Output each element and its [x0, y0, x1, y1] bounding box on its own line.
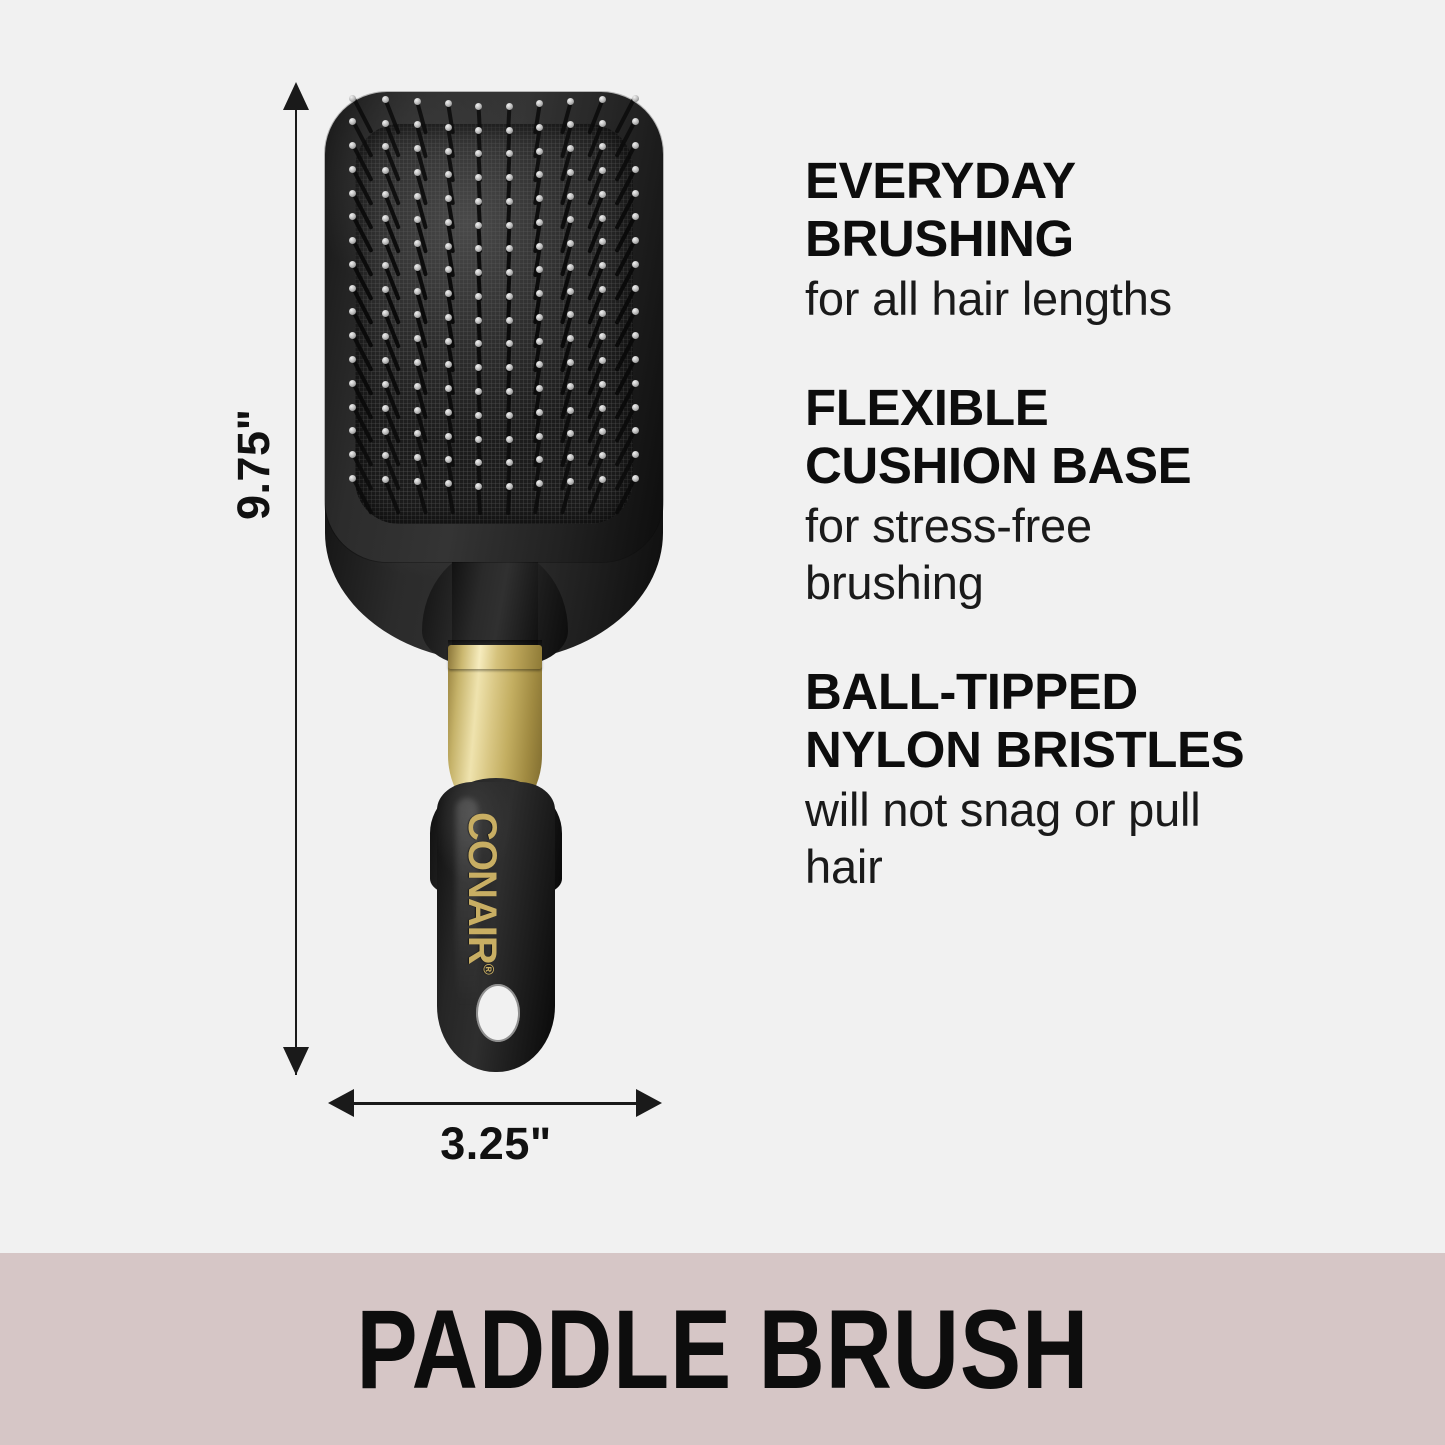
feature-item: BALL-TIPPED NYLON BRISTLES will not snag…: [805, 663, 1275, 895]
bristle-ball-tip: [632, 451, 639, 458]
bristle-ball-tip: [567, 430, 574, 437]
gold-ferrule-band: [448, 645, 542, 669]
width-dimension-label: 3.25": [336, 1118, 656, 1170]
bristle-ball-tip: [382, 262, 389, 269]
bristle-ball-tip: [414, 216, 421, 223]
bristle-ball-tip: [506, 317, 513, 324]
bristle-ball-tip: [567, 240, 574, 247]
bristle-ball-tip: [382, 120, 389, 127]
bristle-ball-tip: [536, 361, 543, 368]
bristle-ball-tip: [599, 428, 606, 435]
bristle-ball-tip: [567, 264, 574, 271]
handle-hang-hole: [476, 984, 520, 1042]
width-dimension-arrow-right: [636, 1089, 662, 1117]
bristle-ball-tip: [414, 335, 421, 342]
bristle-ball-tip: [632, 166, 639, 173]
bristle-ball-tip: [445, 124, 452, 131]
height-dimension-label: 9.75": [228, 409, 280, 520]
bristle-ball-tip: [567, 98, 574, 105]
bristle-ball-tip: [445, 290, 452, 297]
bristle-ball-tip: [445, 148, 452, 155]
bristle-ball-tip: [632, 427, 639, 434]
bristle-ball-tip: [414, 145, 421, 152]
bristle-ball-tip: [567, 383, 574, 390]
bristle-ball-tip: [414, 240, 421, 247]
product-name-title: PADDLE BRUSH: [356, 1285, 1089, 1414]
bristle-ball-tip: [414, 478, 421, 485]
bristle-ball-tip: [506, 412, 513, 419]
bristle-ball-tip: [567, 216, 574, 223]
bristle-ball-tip: [445, 243, 452, 250]
bristle-ball-tip: [536, 290, 543, 297]
bristle-ball-tip: [536, 456, 543, 463]
bristle-ball-tip: [599, 262, 606, 269]
bristle-ball-tip: [599, 357, 606, 364]
bristle-ball-tip: [536, 124, 543, 131]
bristle-ball-tip: [414, 98, 421, 105]
feature-description: for stress-free brushing: [805, 497, 1275, 611]
bristle-ball-tip: [567, 454, 574, 461]
feature-item: FLEXIBLE CUSHION BASE for stress-free br…: [805, 379, 1275, 611]
bristle-ball-tip: [536, 243, 543, 250]
bristle-ball-tip: [632, 118, 639, 125]
bristle-ball-tip: [599, 452, 606, 459]
bristle-ball-tip: [632, 475, 639, 482]
bristle-ball-tip: [599, 96, 606, 103]
bristle-ball-tip: [382, 143, 389, 150]
bristle-ball-tip: [567, 145, 574, 152]
bristle-ball-tip: [599, 405, 606, 412]
bristle-ball-tip: [475, 103, 482, 110]
bristle-ball-tip: [536, 409, 543, 416]
bristle-ball-tip: [536, 219, 543, 226]
paddle-brush-image: CONAIR®: [318, 92, 718, 1072]
bristle-ball-tip: [599, 191, 606, 198]
bristle-ball-tip: [475, 436, 482, 443]
bristle-ball-tip: [414, 383, 421, 390]
bristle: [506, 486, 511, 514]
bristle-ball-tip: [599, 333, 606, 340]
bristle-ball-tip: [506, 340, 513, 347]
conair-brand-logo: CONAIR®: [459, 812, 504, 974]
bristle-ball-tip: [567, 311, 574, 318]
bristle-ball-tip: [506, 198, 513, 205]
bristle-ball-tip: [506, 459, 513, 466]
bristle-ball-tip: [632, 380, 639, 387]
bristle-ball-tip: [567, 169, 574, 176]
bristle-ball-tip: [536, 338, 543, 345]
bristle-ball-tip: [536, 171, 543, 178]
bristle-ball-tip: [506, 103, 513, 110]
bristle-ball-tip: [506, 245, 513, 252]
bristle-ball-tip: [506, 293, 513, 300]
bristle-ball-tip: [536, 385, 543, 392]
product-name-banner: PADDLE BRUSH: [0, 1253, 1445, 1445]
bristle-ball-tip: [382, 476, 389, 483]
bristle-ball-tip: [382, 357, 389, 364]
bristle-ball-tip: [414, 359, 421, 366]
bristle-ball-tip: [414, 264, 421, 271]
bristle-ball-tip: [445, 219, 452, 226]
bristle-ball-tip: [599, 238, 606, 245]
bristle-ball-tip: [445, 338, 452, 345]
width-dimension-line: [336, 1102, 656, 1105]
bristle-ball-tip: [567, 335, 574, 342]
bristle-ball-tip: [632, 142, 639, 149]
bristle-ball-tip: [382, 96, 389, 103]
bristle-ball-tip: [567, 288, 574, 295]
bristle-ball-tip: [567, 478, 574, 485]
bristle-ball-tip: [599, 476, 606, 483]
bristle-ball-tip: [536, 433, 543, 440]
bristle-ball-tip: [632, 404, 639, 411]
bristle-ball-tip: [414, 169, 421, 176]
bristle-ball-tip: [599, 381, 606, 388]
bristle-ball-tip: [445, 480, 452, 487]
bristle-ball-tip: [445, 409, 452, 416]
bristle-ball-tip: [382, 381, 389, 388]
bristle-ball-tip: [536, 314, 543, 321]
bristle-ball-tip: [414, 454, 421, 461]
bristle-ball-tip: [536, 195, 543, 202]
bristle-ball-tip: [382, 310, 389, 317]
bristle-ball-tip: [567, 193, 574, 200]
bristle-ball-tip: [414, 288, 421, 295]
brand-name: CONAIR: [460, 812, 504, 964]
bristle-ball-tip: [632, 261, 639, 268]
bristle-ball-tip: [445, 100, 452, 107]
bristle-ball-tip: [567, 121, 574, 128]
feature-title: FLEXIBLE CUSHION BASE: [805, 379, 1275, 495]
bristle-ball-tip: [536, 148, 543, 155]
bristle-ball-tip: [536, 100, 543, 107]
bristle-ball-tip: [599, 310, 606, 317]
bristle-ball-tip: [414, 430, 421, 437]
bristle-ball-tip: [445, 385, 452, 392]
infographic-canvas: 9.75" CONAIR® 3.25" EVERYDAY BRUSHING fo…: [0, 0, 1445, 1445]
feature-title: EVERYDAY BRUSHING: [805, 152, 1275, 268]
bristle-ball-tip: [349, 404, 356, 411]
bristle-ball-tip: [567, 407, 574, 414]
bristle-ball-tip: [536, 480, 543, 487]
bristle-ball-tip: [445, 171, 452, 178]
bristle-ball-tip: [599, 215, 606, 222]
bristle-ball-tip: [382, 191, 389, 198]
bristle: [615, 97, 637, 135]
bristle-ball-tip: [506, 436, 513, 443]
bristle-ball-tip: [506, 174, 513, 181]
bristle-ball-tip: [382, 286, 389, 293]
bristle-ball-tip: [506, 483, 513, 490]
bristle-ball-tip: [506, 127, 513, 134]
bristle-ball-tip: [632, 356, 639, 363]
bristle-ball-tip: [414, 121, 421, 128]
bristle-ball-tip: [445, 195, 452, 202]
bristle-ball-tip: [382, 405, 389, 412]
bristle-ball-tip: [506, 269, 513, 276]
bristle-ball-tip: [599, 143, 606, 150]
bristle-ball-tip: [632, 285, 639, 292]
bristle-ball-tip: [599, 167, 606, 174]
bristle-ball-tip: [475, 127, 482, 134]
bristle-ball-tip: [632, 213, 639, 220]
bristle-ball-tip: [632, 237, 639, 244]
feature-description: will not snag or pull hair: [805, 781, 1275, 895]
registered-trademark-icon: ®: [479, 964, 496, 974]
feature-item: EVERYDAY BRUSHING for all hair lengths: [805, 152, 1275, 327]
bristle-ball-tip: [506, 388, 513, 395]
bristle-ball-tip: [599, 286, 606, 293]
bristle-ball-tip: [414, 407, 421, 414]
bristle-ball-tip: [445, 433, 452, 440]
bristle-ball-tip: [536, 266, 543, 273]
bristle-ball-tip: [382, 452, 389, 459]
feature-description: for all hair lengths: [805, 270, 1275, 327]
bristle-ball-tip: [506, 222, 513, 229]
bristle-ball-tip: [632, 95, 639, 102]
height-dimension-arrow-down: [283, 1047, 309, 1075]
bristle-ball-tip: [506, 364, 513, 371]
bristle-ball-tip: [382, 215, 389, 222]
bristle-ball-tip: [445, 314, 452, 321]
bristle: [477, 486, 482, 514]
feature-title: BALL-TIPPED NYLON BRISTLES: [805, 663, 1275, 779]
bristle-ball-tip: [599, 120, 606, 127]
bristle-ball-tip: [632, 332, 639, 339]
bristle-ball-tip: [414, 193, 421, 200]
bristle-ball-tip: [349, 95, 356, 102]
bristle-ball-tip: [506, 150, 513, 157]
bristle-ball-tip: [567, 359, 574, 366]
feature-list: EVERYDAY BRUSHING for all hair lengths F…: [805, 152, 1275, 947]
height-dimension-line: [295, 95, 297, 1075]
bristle-ball-tip: [632, 190, 639, 197]
bristle-ball-tip: [632, 308, 639, 315]
bristle-ball-tip: [382, 238, 389, 245]
bristle-ball-tip: [382, 167, 389, 174]
